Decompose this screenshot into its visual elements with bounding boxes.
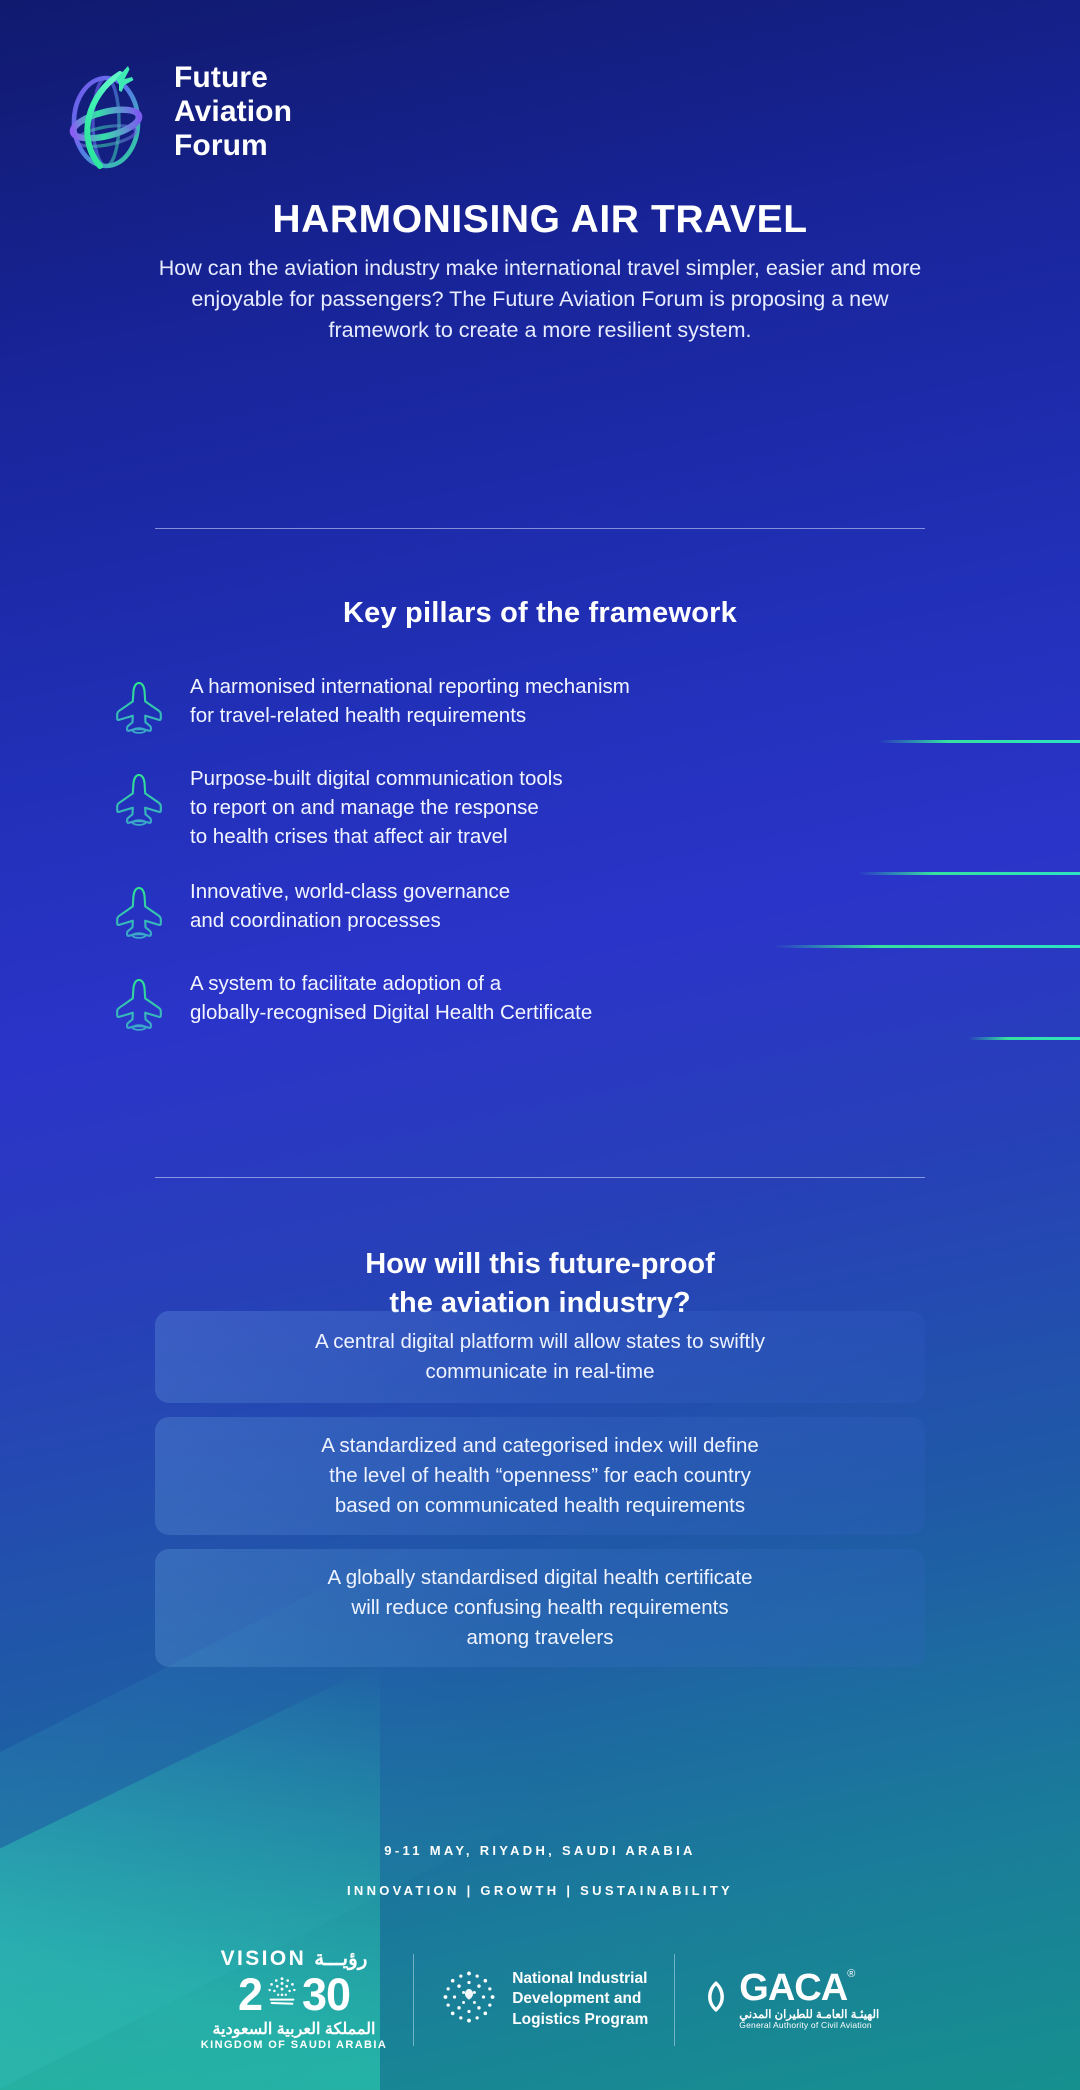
- pillar-text: A harmonised international reporting mec…: [168, 672, 630, 730]
- brand-lockup: Future Aviation Forum: [60, 52, 292, 172]
- future-title-line-1: How will this future-proof: [0, 1245, 1080, 1284]
- saudi-palm-swords-emblem-icon: [263, 1972, 301, 2017]
- event-date-location: 9-11 MAY, RIYADH, SAUDI ARABIA: [0, 1843, 1080, 1858]
- card-line: the level of health “openness” for each …: [321, 1461, 759, 1491]
- brand-line-1: Future: [174, 61, 292, 95]
- vision-2030-en-kingdom: KINGDOM OF SAUDI ARABIA: [201, 2040, 387, 2051]
- pillar-accent-line: [858, 872, 1080, 875]
- brand-line-3: Forum: [174, 129, 292, 163]
- gaca-falcon-icon: [701, 1979, 731, 2020]
- future-aviation-forum-globe-icon: [60, 52, 156, 172]
- divider-top: [155, 528, 925, 529]
- future-card: A standardized and categorised index wil…: [155, 1417, 925, 1535]
- pillar-line: to health crises that affect air travel: [190, 822, 563, 851]
- pillar-line: Innovative, world-class governance: [190, 877, 510, 906]
- pillar-accent-line: [968, 1037, 1080, 1040]
- pillar-line: Purpose-built digital communication tool…: [190, 764, 563, 793]
- pillar-line: A system to facilitate adoption of a: [190, 969, 592, 998]
- vision-2030-ar-kingdom: المملكة العربية السعودية: [201, 2022, 387, 2038]
- pillar-line: for travel-related health requirements: [190, 701, 630, 730]
- pillars-list: A harmonised international reporting mec…: [0, 672, 1080, 1035]
- future-cards-list: A central digital platform will allow st…: [155, 1311, 925, 1667]
- vision-2030-en-word: VISION: [221, 1948, 307, 1969]
- pillar-item: Innovative, world-class governance and c…: [0, 877, 1080, 943]
- gaca-wordmark: GACA: [739, 1969, 847, 2009]
- pillar-line: A harmonised international reporting mec…: [190, 672, 630, 701]
- pillar-line: to report on and manage the response: [190, 793, 563, 822]
- airplane-outline-icon: [110, 770, 168, 830]
- nidlp-line-1: National Industrial: [512, 1969, 648, 1989]
- pillar-item: Purpose-built digital communication tool…: [0, 764, 1080, 851]
- pillar-line: and coordination processes: [190, 906, 510, 935]
- card-line: based on communicated health requirement…: [321, 1491, 759, 1521]
- pillar-item: A harmonised international reporting mec…: [0, 672, 1080, 738]
- page-subtitle: How can the aviation industry make inter…: [145, 253, 935, 347]
- card-line: will reduce confusing health requirement…: [327, 1593, 752, 1623]
- pillar-line: globally-recognised Digital Health Certi…: [190, 998, 592, 1027]
- card-line: communicate in real-time: [315, 1357, 765, 1387]
- pillar-text: A system to facilitate adoption of a glo…: [168, 969, 592, 1027]
- vision-2030-logo: VISION رؤيـــة 2: [175, 1948, 413, 2051]
- gaca-logo: GACA ® الهيئـة العامـة للطيران المدني Ge…: [675, 1969, 905, 2030]
- airplane-outline-icon: [110, 883, 168, 943]
- page-title: HARMONISING AIR TRAVEL: [0, 198, 1080, 242]
- event-tagline: INNOVATION | GROWTH | SUSTAINABILITY: [0, 1883, 1080, 1898]
- brand-line-2: Aviation: [174, 95, 292, 129]
- divider-bottom: [155, 1177, 925, 1178]
- gaca-registered-mark: ®: [847, 1969, 855, 1981]
- nidlp-dotted-star-icon: [440, 1968, 498, 2031]
- nidlp-line-2: Development and: [512, 1989, 648, 2009]
- vision-2030-ar-word: رؤيـــة: [314, 1949, 367, 1969]
- vision-2030-year-right: 30: [302, 1972, 350, 2017]
- pillar-text: Purpose-built digital communication tool…: [168, 764, 563, 851]
- future-card: A globally standardised digital health c…: [155, 1549, 925, 1667]
- future-card: A central digital platform will allow st…: [155, 1311, 925, 1403]
- card-line: A central digital platform will allow st…: [315, 1327, 765, 1357]
- airplane-outline-icon: [110, 975, 168, 1035]
- nidlp-logo: National Industrial Development and Logi…: [414, 1968, 674, 2031]
- infographic-poster: Future Aviation Forum HARMONISING AIR TR…: [0, 0, 1080, 2090]
- card-line: A standardized and categorised index wil…: [321, 1431, 759, 1461]
- pillar-item: A system to facilitate adoption of a glo…: [0, 969, 1080, 1035]
- pillar-accent-line: [773, 945, 1080, 948]
- card-line: among travelers: [327, 1623, 752, 1653]
- gaca-english-name: General Authority of Civil Aviation: [739, 2021, 879, 2030]
- airplane-outline-icon: [110, 678, 168, 738]
- pillar-accent-line: [878, 740, 1080, 743]
- pillar-text: Innovative, world-class governance and c…: [168, 877, 510, 935]
- nidlp-line-3: Logistics Program: [512, 2010, 648, 2030]
- vision-2030-year-left: 2: [238, 1972, 262, 2017]
- pillars-section-title: Key pillars of the framework: [0, 597, 1080, 630]
- brand-wordmark: Future Aviation Forum: [174, 61, 292, 163]
- partner-logos: VISION رؤيـــة 2: [0, 1948, 1080, 2051]
- card-line: A globally standardised digital health c…: [327, 1563, 752, 1593]
